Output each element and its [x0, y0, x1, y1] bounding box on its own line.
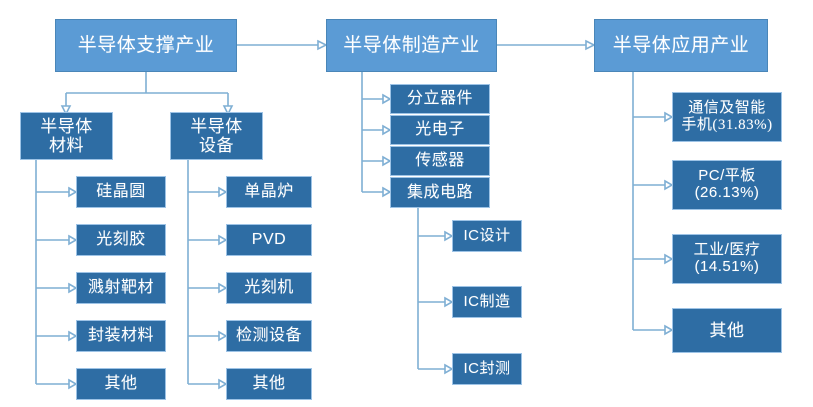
leaf-equipment-2[interactable]: PVD — [226, 224, 312, 256]
node-app-industrial-medical[interactable]: 工业/医疗 (14.51%) — [672, 234, 782, 284]
root-node-support[interactable]: 半导体支撑产业 — [55, 19, 237, 72]
leaf-equipment-5[interactable]: 其他 — [226, 368, 312, 400]
node-ic-packaging-testing[interactable]: IC封测 — [452, 353, 522, 385]
leaf-material-2[interactable]: 光刻胶 — [76, 224, 166, 256]
node-discrete-devices[interactable]: 分立器件 — [390, 84, 490, 114]
node-app-other[interactable]: 其他 — [672, 308, 782, 353]
leaf-equipment-1[interactable]: 单晶炉 — [226, 176, 312, 208]
node-ic-design[interactable]: IC设计 — [452, 220, 522, 252]
root-node-manufacturing[interactable]: 半导体制造产业 — [326, 19, 497, 72]
node-ic-manufacturing[interactable]: IC制造 — [452, 286, 522, 318]
node-app-pc-tablet[interactable]: PC/平板 (26.13%) — [672, 160, 782, 210]
semiconductor-industry-chain-diagram: 半导体支撑产业 半导体 材料 半导体 设备 硅晶圆 光刻胶 溅射靶材 封装材料 … — [0, 0, 813, 407]
node-sensors[interactable]: 传感器 — [390, 146, 490, 176]
group-node-equipment[interactable]: 半导体 设备 — [170, 112, 263, 160]
leaf-equipment-4[interactable]: 检测设备 — [226, 320, 312, 352]
node-app-communication-smartphone[interactable]: 通信及智能 手机(31.83%) — [672, 92, 782, 142]
group-node-materials[interactable]: 半导体 材料 — [20, 112, 113, 160]
leaf-material-1[interactable]: 硅晶圆 — [76, 176, 166, 208]
leaf-material-3[interactable]: 溅射靶材 — [76, 272, 166, 304]
leaf-equipment-3[interactable]: 光刻机 — [226, 272, 312, 304]
node-integrated-circuits[interactable]: 集成电路 — [390, 177, 490, 208]
node-optoelectronics[interactable]: 光电子 — [390, 115, 490, 145]
root-node-application[interactable]: 半导体应用产业 — [594, 19, 768, 72]
leaf-material-5[interactable]: 其他 — [76, 368, 166, 400]
leaf-material-4[interactable]: 封装材料 — [76, 320, 166, 352]
